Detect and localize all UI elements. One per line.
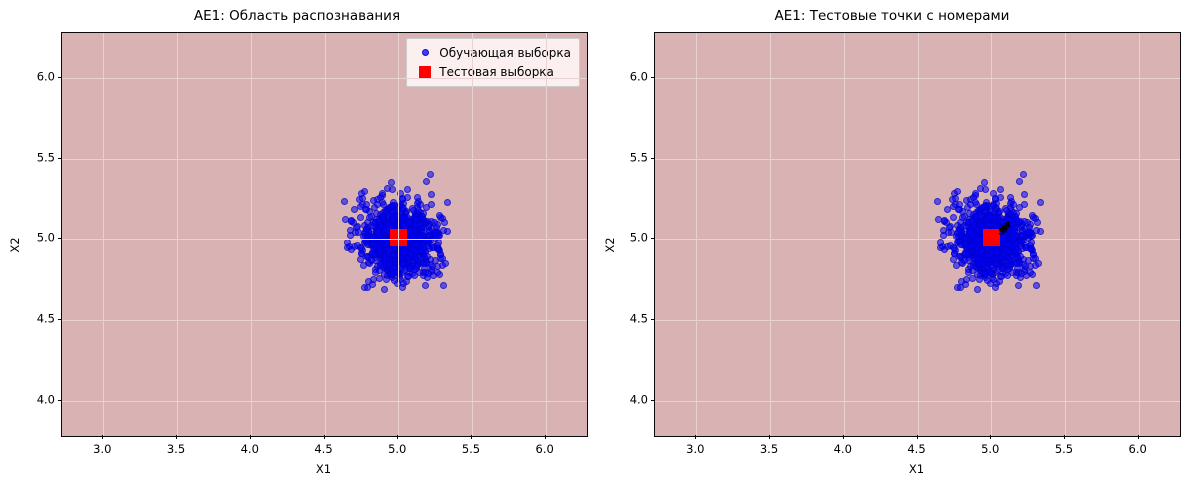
scatter-point-train (1005, 254, 1012, 261)
panel-recognition-area: AE1: Область распознавания Обучающая выб… (0, 0, 594, 490)
x-tick-label: 3.5 (760, 443, 778, 456)
scatter-point-train (962, 234, 969, 241)
gridline-vertical (251, 33, 252, 436)
x-tick-label: 3.5 (167, 443, 185, 456)
scatter-point-train (987, 213, 994, 220)
scatter-point-train (351, 206, 358, 213)
gridline-vertical (1065, 33, 1066, 436)
x-tick-mark (324, 435, 325, 439)
x-tick-mark (102, 435, 103, 439)
legend-label-train: Обучающая выборка (436, 46, 571, 60)
figure: AE1: Область распознавания Обучающая выб… (0, 0, 1189, 490)
plot-area-right: 12345 (654, 32, 1181, 437)
y-tick-mark (58, 319, 62, 320)
y-tick-mark (651, 238, 655, 239)
scatter-point-train (951, 250, 958, 257)
gridline-vertical (325, 33, 326, 436)
gridline-horizontal (655, 159, 1180, 160)
scatter-point-train (1015, 282, 1022, 289)
panel-title-right: AE1: Тестовые точки с номерами (595, 8, 1189, 24)
gridline-vertical (844, 33, 845, 436)
scatter-point-train (1037, 199, 1044, 206)
circle-marker-icon (414, 49, 436, 56)
x-tick-label: 5.0 (981, 443, 999, 456)
scatter-point-train (440, 282, 447, 289)
scatter-point-train (963, 276, 970, 283)
scatter-point-train (415, 207, 422, 214)
gridline-horizontal (62, 239, 587, 240)
scatter-point-train (956, 226, 963, 233)
scatter-point-train (964, 245, 971, 252)
gridline-horizontal (655, 320, 1180, 321)
x-tick-label: 4.0 (241, 443, 259, 456)
scatter-point-train (965, 269, 972, 276)
y-tick-label: 6.0 (15, 71, 55, 84)
scatter-point-train (950, 214, 957, 221)
scatter-point-train (422, 282, 429, 289)
gridline-horizontal (62, 401, 587, 402)
x-tick-mark (769, 435, 770, 439)
legend-item-train: Обучающая выборка (414, 43, 571, 62)
scatter-point-train (940, 232, 947, 239)
x-axis-label-right: X1 (909, 463, 924, 476)
scatter-point-train (425, 270, 432, 277)
scatter-point-train (1018, 270, 1025, 277)
scatter-point-train (427, 171, 434, 178)
scatter-point-train (1021, 191, 1028, 198)
scatter-point-train (356, 196, 363, 203)
test-point-number-label: 4 (1004, 222, 1010, 231)
panel-title-left: AE1: Область распознавания (0, 8, 594, 24)
scatter-point-train (1004, 272, 1011, 279)
y-tick-mark (651, 158, 655, 159)
scatter-point-train (381, 261, 388, 268)
legend-label-test: Тестовая выборка (436, 65, 554, 79)
scatter-point-train (358, 250, 365, 257)
y-tick-mark (651, 319, 655, 320)
y-tick-label: 6.0 (608, 71, 648, 84)
scatter-point-train (1020, 171, 1027, 178)
scatter-point-train (974, 286, 981, 293)
square-marker-icon (414, 66, 436, 78)
scatter-point-train (363, 226, 370, 233)
gridline-horizontal (62, 320, 587, 321)
x-tick-label: 4.5 (314, 443, 332, 456)
scatter-point-train (372, 269, 379, 276)
scatter-point-train (386, 247, 393, 254)
scatter-point-train (405, 273, 412, 280)
x-tick-label: 5.5 (1055, 443, 1073, 456)
scatter-point-train (941, 246, 948, 253)
x-tick-label: 4.5 (907, 443, 925, 456)
scatter-point-train (1016, 204, 1023, 211)
scatter-point-train (348, 217, 355, 224)
y-tick-label: 4.0 (608, 393, 648, 406)
scatter-point-train (399, 195, 406, 202)
scatter-point-train (1010, 235, 1017, 242)
x-tick-mark (917, 435, 918, 439)
scatter-point-train (387, 204, 394, 211)
x-tick-mark (545, 435, 546, 439)
x-tick-mark (250, 435, 251, 439)
x-tick-label: 4.0 (834, 443, 852, 456)
scatter-point-train (381, 286, 388, 293)
x-tick-mark (695, 435, 696, 439)
scatter-point-train (954, 188, 961, 195)
y-tick-label: 4.0 (15, 393, 55, 406)
x-axis-label-left: X1 (316, 463, 331, 476)
scatter-point-train (442, 260, 449, 267)
scatter-point-train (412, 254, 419, 261)
y-tick-label: 4.5 (15, 312, 55, 325)
scatter-point-train (949, 196, 956, 203)
scatter-point-train (361, 188, 368, 195)
gridline-vertical (177, 33, 178, 436)
scatter-point-train (1016, 178, 1023, 185)
scatter-point-train (977, 185, 984, 192)
scatter-point-train (370, 276, 377, 283)
y-tick-mark (651, 400, 655, 401)
x-tick-mark (176, 435, 177, 439)
scatter-point-train (404, 186, 411, 193)
scatter-point-train (979, 247, 986, 254)
x-tick-label: 3.0 (686, 443, 704, 456)
x-tick-mark (843, 435, 844, 439)
panel-numbered-test-points: AE1: Тестовые точки с номерами 12345 X1 … (595, 0, 1189, 490)
y-tick-mark (58, 158, 62, 159)
scatter-point-train (988, 251, 995, 258)
scatter-point-train (406, 228, 413, 235)
scatter-point-train (411, 272, 418, 279)
gridline-vertical (1139, 33, 1140, 436)
scatter-point-train (944, 206, 951, 213)
scatter-point-train (341, 198, 348, 205)
y-tick-label: 5.5 (608, 151, 648, 164)
scatter-point-train (384, 185, 391, 192)
scatter-point-train (934, 198, 941, 205)
scatter-point-train (959, 214, 966, 221)
y-tick-mark (58, 400, 62, 401)
gridline-vertical (770, 33, 771, 436)
y-tick-mark (651, 77, 655, 78)
scatter-point-train (974, 261, 981, 268)
x-tick-label: 6.0 (536, 443, 554, 456)
scatter-point-train (998, 273, 1005, 280)
scatter-point-train (1025, 229, 1032, 236)
scatter-point-train (980, 204, 987, 211)
scatter-point-train (423, 178, 430, 185)
scatter-point-train (432, 229, 439, 236)
test-point-number-label: 5 (998, 228, 1004, 237)
x-tick-mark (397, 435, 398, 439)
x-tick-label: 5.5 (462, 443, 480, 456)
gridline-vertical (398, 33, 399, 436)
scatter-point-train (366, 214, 373, 221)
gridline-vertical (696, 33, 697, 436)
x-tick-mark (471, 435, 472, 439)
scatter-point-train (941, 217, 948, 224)
y-tick-label: 5.0 (608, 232, 648, 245)
y-tick-label: 5.5 (15, 151, 55, 164)
scatter-point-train (371, 245, 378, 252)
scatter-point-train (937, 239, 944, 246)
scatter-point-train (348, 246, 355, 253)
legend-left: Обучающая выборка Тестовая выборка (406, 38, 580, 87)
scatter-point-train (357, 214, 364, 221)
gridline-horizontal (655, 239, 1180, 240)
scatter-point-train (444, 199, 451, 206)
plot-area-left: Обучающая выборка Тестовая выборка (61, 32, 588, 437)
x-tick-mark (1138, 435, 1139, 439)
scatter-point-train (423, 204, 430, 211)
gridline-vertical (472, 33, 473, 436)
y-tick-label: 5.0 (15, 232, 55, 245)
test-point-marker (983, 229, 1000, 246)
scatter-point-train (428, 191, 435, 198)
scatter-point-train (347, 232, 354, 239)
y-tick-label: 4.5 (608, 312, 648, 325)
gridline-vertical (918, 33, 919, 436)
scatter-point-train (394, 213, 401, 220)
scatter-point-train (992, 195, 999, 202)
scatter-point-train (399, 284, 406, 291)
gridline-horizontal (62, 78, 587, 79)
gridline-horizontal (655, 78, 1180, 79)
gridline-vertical (546, 33, 547, 436)
y-tick-mark (58, 77, 62, 78)
gridline-horizontal (62, 159, 587, 160)
scatter-point-train (997, 186, 1004, 193)
x-tick-mark (1064, 435, 1065, 439)
x-tick-label: 6.0 (1129, 443, 1147, 456)
gridline-vertical (103, 33, 104, 436)
x-tick-label: 5.0 (388, 443, 406, 456)
scatter-point-train (1033, 282, 1040, 289)
gridline-horizontal (655, 401, 1180, 402)
x-tick-label: 3.0 (93, 443, 111, 456)
scatter-point-train (992, 284, 999, 291)
scatter-point-train (1008, 207, 1015, 214)
y-tick-mark (58, 238, 62, 239)
scatter-point-train (1035, 260, 1042, 267)
x-tick-mark (990, 435, 991, 439)
